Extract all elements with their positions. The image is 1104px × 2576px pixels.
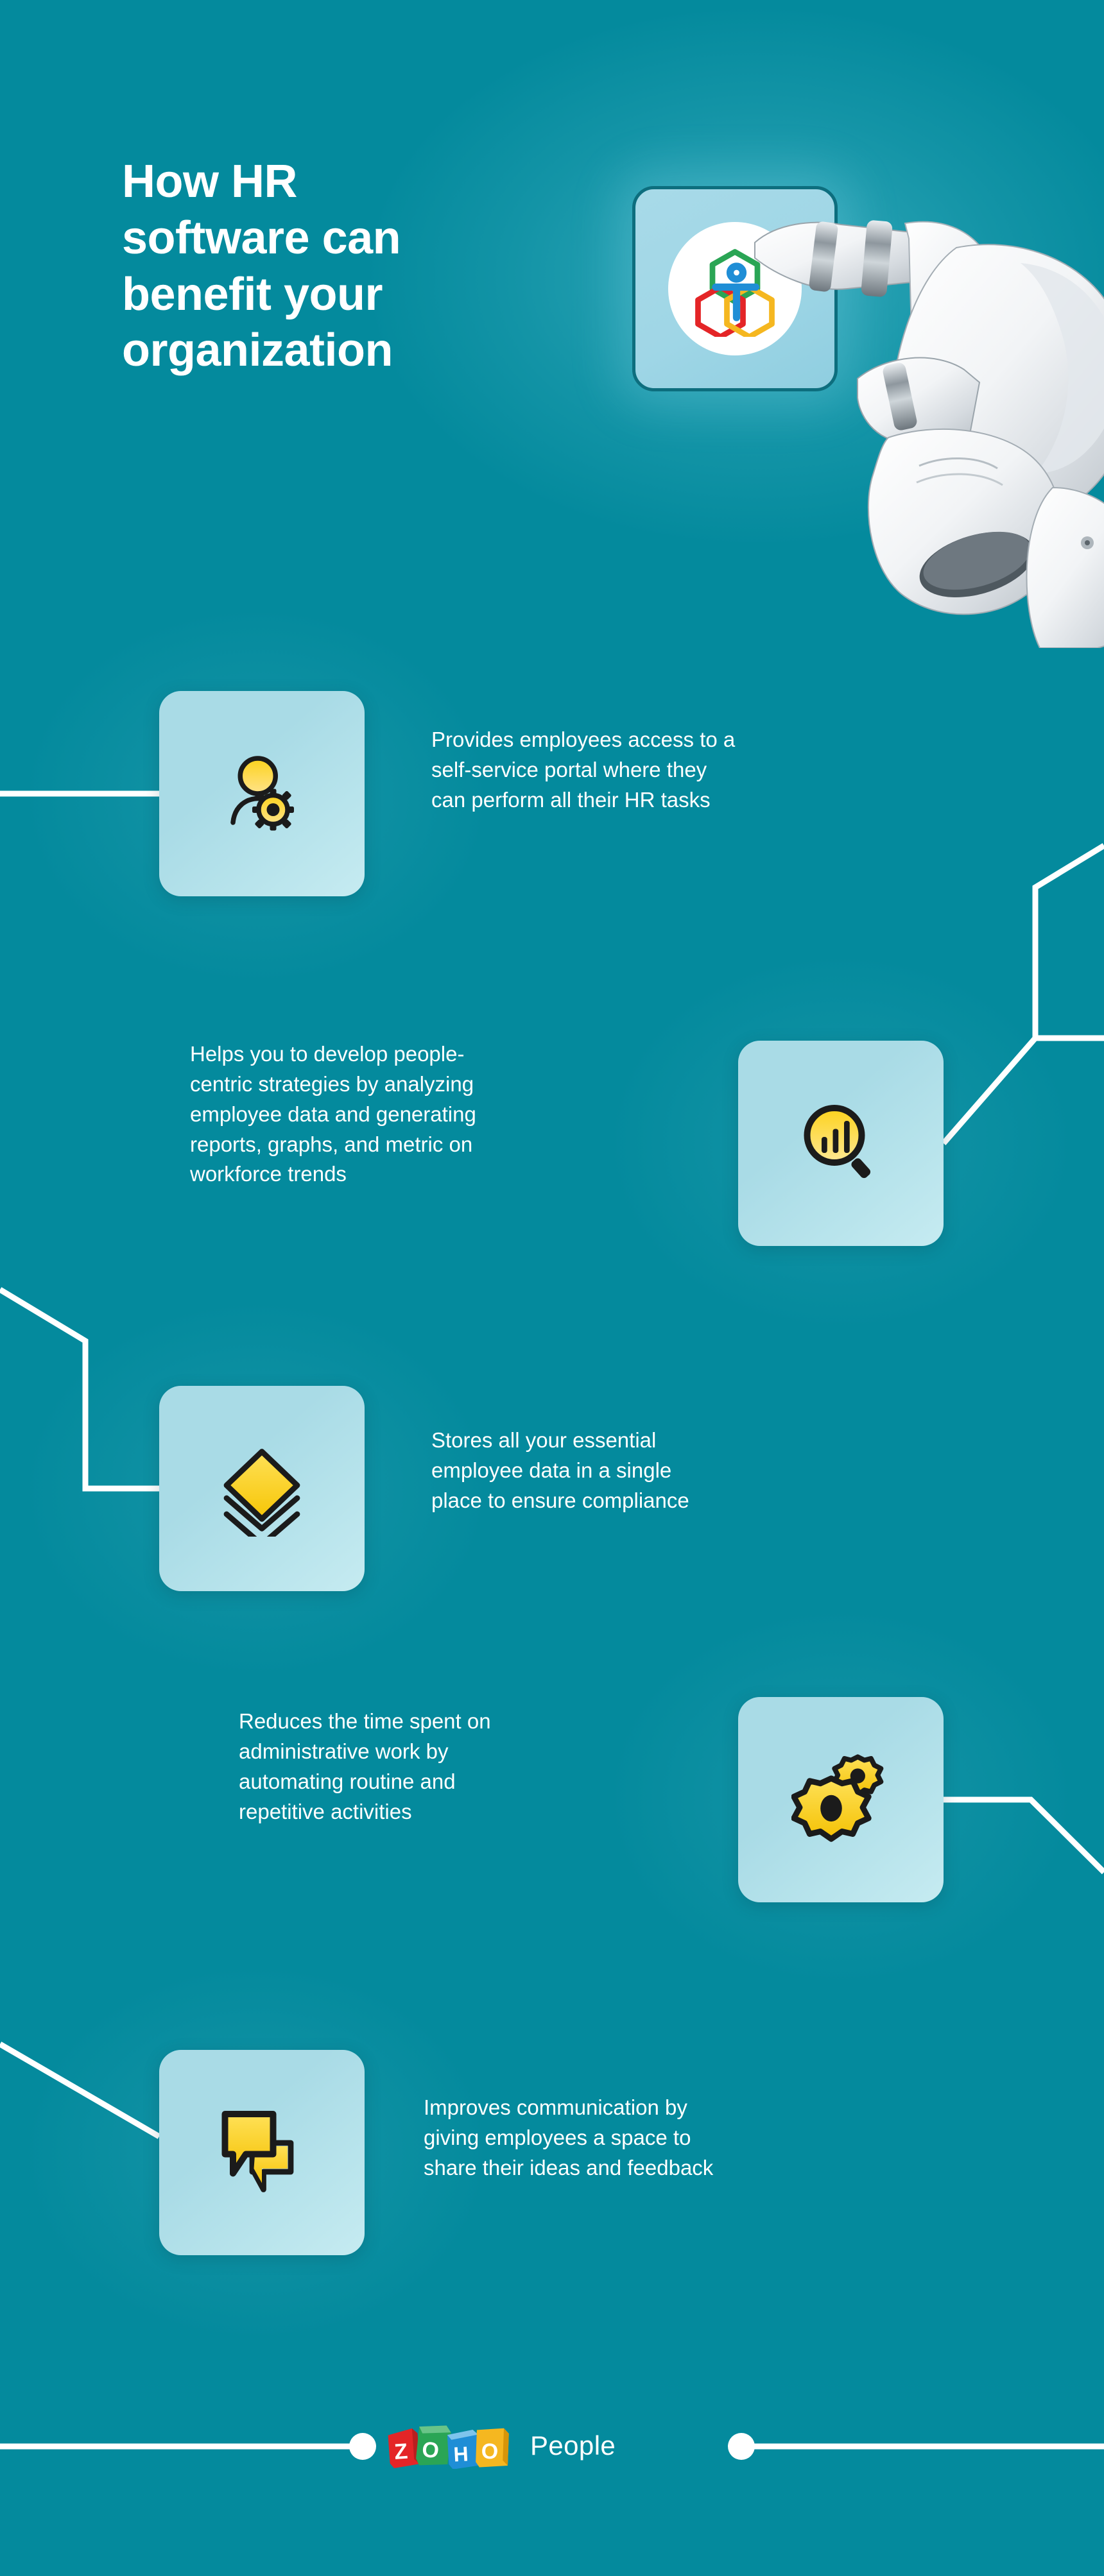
item-text-5: Improves communication by giving employe…	[424, 2093, 950, 2183]
icon-card-4[interactable]	[738, 1697, 944, 1902]
svg-text:H: H	[453, 2442, 469, 2466]
gears-automation-icon	[791, 1750, 891, 1850]
footer-dot-right	[728, 2433, 755, 2460]
item-text-2: Helps you to develop people- centric str…	[190, 1039, 697, 1190]
icon-card-1[interactable]	[159, 691, 365, 896]
zoho-logo-icon: Z O H O	[385, 2423, 520, 2469]
connector-item-3	[0, 1290, 159, 1488]
stacked-layers-icon	[214, 1440, 310, 1537]
footer-brand: Z O H O People	[385, 2407, 616, 2484]
connector-item-5	[0, 2044, 159, 2137]
product-name: People	[530, 2430, 616, 2461]
svg-text:O: O	[481, 2439, 499, 2464]
employee-settings-icon	[214, 746, 310, 842]
svg-text:O: O	[421, 2437, 440, 2464]
icon-card-2[interactable]	[738, 1041, 944, 1246]
footer-dot-left	[349, 2433, 376, 2460]
svg-text:Z: Z	[393, 2439, 408, 2464]
analytics-magnifier-icon	[793, 1095, 889, 1191]
item-text-3: Stores all your essential employee data …	[431, 1426, 945, 1516]
connector-item-2-lower	[944, 1038, 1104, 1143]
chat-bubbles-icon	[214, 2104, 310, 2201]
item-text-1: Provides employees access to a self-serv…	[431, 725, 945, 815]
robot-hand-image	[751, 186, 1104, 648]
connector-item-4	[944, 1800, 1104, 1872]
page-title: How HR software can benefit your organiz…	[122, 154, 533, 379]
item-text-4: Reduces the time spent on administrative…	[239, 1707, 701, 1827]
icon-card-3[interactable]	[159, 1386, 365, 1591]
icon-card-5[interactable]	[159, 2050, 365, 2255]
infographic-canvas: How HR software can benefit your organiz…	[0, 0, 1104, 2576]
connector-item-2-upper	[1035, 846, 1104, 1038]
